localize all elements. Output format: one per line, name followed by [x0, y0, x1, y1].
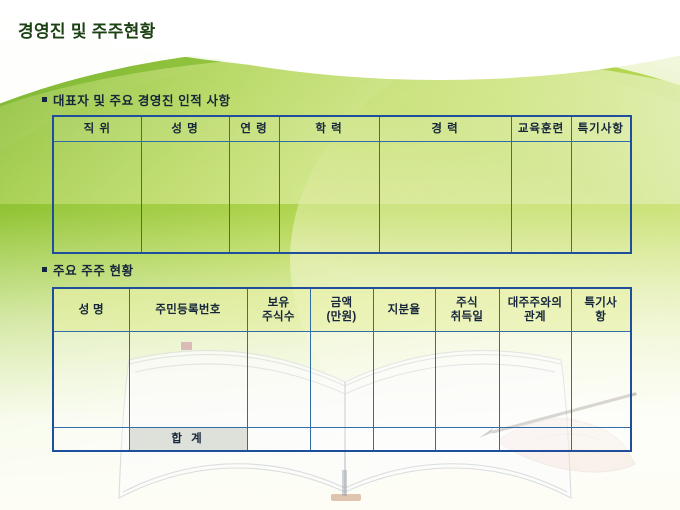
- col-header-remarks: 특기사 항: [571, 288, 631, 332]
- col-header-relation-line1: 대주주와의: [508, 297, 562, 309]
- col-header-amount: 금액 (만원): [310, 288, 373, 332]
- bullet-square-icon: [42, 97, 47, 102]
- col-header-amount-line2: (만원): [326, 311, 356, 323]
- cell-training[interactable]: [511, 142, 571, 254]
- col-header-career: 경 력: [379, 116, 511, 142]
- shareholders-table[interactable]: 성 명 주민등록번호 보유 주식수 금액 (만원) 지분율 주식 취득일 대주주…: [52, 287, 632, 452]
- col-header-resident-id: 주민등록번호: [129, 288, 247, 332]
- section-heading-label: 대표자 및 주요 경영진 인적 사항: [53, 90, 231, 109]
- table-total-row[interactable]: 합 계: [53, 428, 631, 452]
- cell-name[interactable]: [53, 332, 129, 428]
- cell-amount[interactable]: [310, 332, 373, 428]
- col-header-education: 학 력: [279, 116, 379, 142]
- table-header-row: 직 위 성 명 연 령 학 력 경 력 교육훈련 특기사항: [53, 116, 631, 142]
- col-header-age: 연 령: [229, 116, 279, 142]
- section-heading-executives: 대표자 및 주요 경영진 인적 사항: [42, 90, 231, 109]
- cell-name[interactable]: [141, 142, 229, 254]
- col-header-training: 교육훈련: [511, 116, 571, 142]
- col-header-position: 직 위: [53, 116, 141, 142]
- total-relation[interactable]: [499, 428, 571, 452]
- page-title: 경영진 및 주주현황: [18, 17, 156, 42]
- col-header-name: 성 명: [53, 288, 129, 332]
- table-row[interactable]: [53, 142, 631, 254]
- bullet-square-icon: [42, 267, 47, 272]
- cell-ownership-ratio[interactable]: [373, 332, 435, 428]
- cell-age[interactable]: [229, 142, 279, 254]
- total-remarks[interactable]: [571, 428, 631, 452]
- cell-position[interactable]: [53, 142, 141, 254]
- col-header-acquisition-date-line2: 취득일: [451, 311, 484, 323]
- cell-career[interactable]: [379, 142, 511, 254]
- col-header-amount-line1: 금액: [331, 297, 353, 309]
- slide: 경영진 및 주주현황 대표자 및 주요 경영진 인적 사항 직 위 성 명 연 …: [0, 0, 680, 510]
- col-header-acquisition-date-line1: 주식: [456, 297, 478, 309]
- col-header-remarks-line2: 항: [595, 311, 606, 323]
- executives-table[interactable]: 직 위 성 명 연 령 학 력 경 력 교육훈련 특기사항: [52, 115, 632, 254]
- total-cell-blank[interactable]: [53, 428, 129, 452]
- col-header-shares-held-line2: 주식수: [262, 311, 295, 323]
- cell-education[interactable]: [279, 142, 379, 254]
- col-header-acquisition-date: 주식 취득일: [435, 288, 499, 332]
- col-header-relation-to-major-shareholder: 대주주와의 관계: [499, 288, 571, 332]
- section-heading-shareholders: 주요 주주 현황: [42, 260, 134, 279]
- total-acquisition-date[interactable]: [435, 428, 499, 452]
- col-header-ownership-ratio: 지분율: [373, 288, 435, 332]
- total-shares-held[interactable]: [247, 428, 310, 452]
- col-header-remarks-line1: 특기사: [584, 297, 617, 309]
- table-header-row: 성 명 주민등록번호 보유 주식수 금액 (만원) 지분율 주식 취득일 대주주…: [53, 288, 631, 332]
- total-amount[interactable]: [310, 428, 373, 452]
- section-heading-label: 주요 주주 현황: [53, 260, 134, 279]
- col-header-remarks: 특기사항: [571, 116, 631, 142]
- total-ownership-ratio[interactable]: [373, 428, 435, 452]
- col-header-shares-held: 보유 주식수: [247, 288, 310, 332]
- col-header-name: 성 명: [141, 116, 229, 142]
- total-label: 합 계: [129, 428, 247, 452]
- cell-acquisition-date[interactable]: [435, 332, 499, 428]
- title-bar: 경영진 및 주주현황: [0, 0, 680, 52]
- cell-remarks[interactable]: [571, 332, 631, 428]
- cell-shares-held[interactable]: [247, 332, 310, 428]
- cell-remarks[interactable]: [571, 142, 631, 254]
- cell-relation[interactable]: [499, 332, 571, 428]
- cell-resident-id[interactable]: [129, 332, 247, 428]
- col-header-relation-line2: 관계: [524, 311, 546, 323]
- table-row[interactable]: [53, 332, 631, 428]
- col-header-shares-held-line1: 보유: [268, 297, 290, 309]
